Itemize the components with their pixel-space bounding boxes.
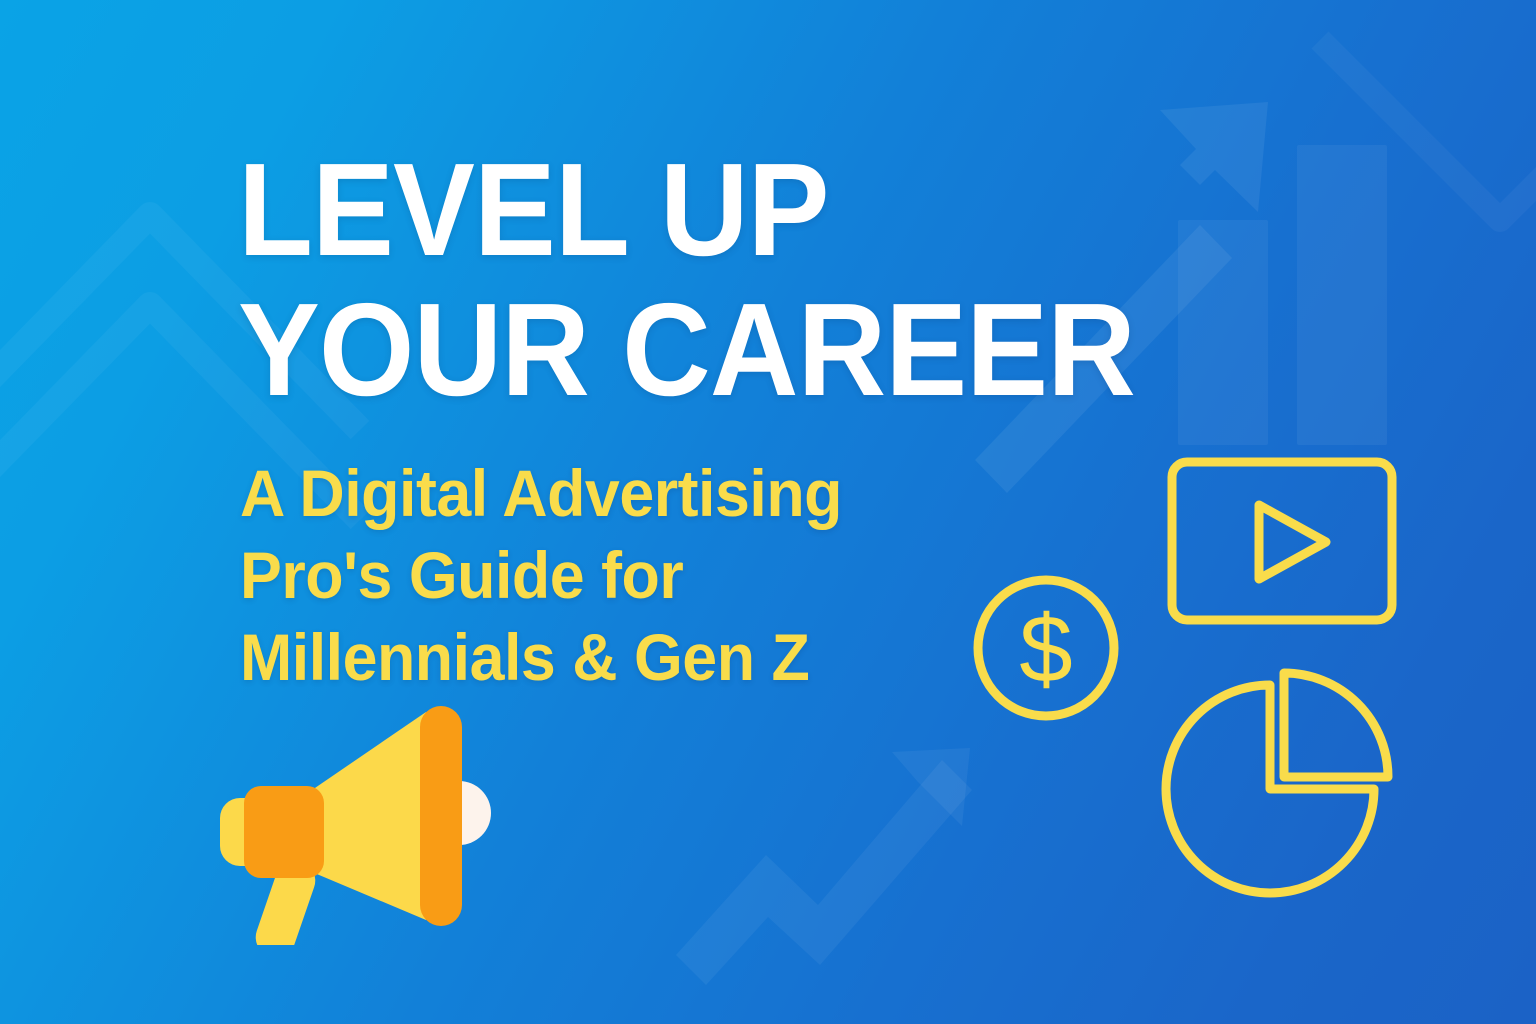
subtitle-line-2: Pro's Guide for <box>240 534 842 616</box>
pie-chart-icon <box>1160 664 1396 904</box>
megaphone-rim <box>420 706 462 926</box>
dollar-coin-icon: $ <box>968 570 1124 726</box>
growth-arrow-bottom <box>676 748 972 985</box>
page-subtitle: A Digital Advertising Pro's Guide for Mi… <box>240 452 842 698</box>
pie-major-slice <box>1166 685 1374 893</box>
dollar-sign-glyph: $ <box>1019 596 1072 703</box>
subtitle-line-3: Millennials & Gen Z <box>240 616 842 698</box>
page-title: LEVEL UP YOUR CAREER <box>238 140 1135 420</box>
megaphone-cone <box>312 712 426 920</box>
headline-line-2: YOUR CAREER <box>238 280 1135 420</box>
chevron-lines-right <box>1320 40 1536 220</box>
bar-chart-bar-short <box>1178 220 1268 445</box>
play-triangle-icon <box>1259 505 1326 579</box>
bar-chart-bar-tall <box>1297 145 1387 445</box>
headline-line-1: LEVEL UP <box>238 140 1135 280</box>
megaphone-body <box>244 786 324 878</box>
subtitle-line-1: A Digital Advertising <box>240 452 842 534</box>
video-frame <box>1172 462 1392 620</box>
pie-quarter-slice <box>1284 673 1388 777</box>
megaphone-icon <box>214 690 504 945</box>
hero-banner: LEVEL UP YOUR CAREER A Digital Advertisi… <box>0 0 1536 1024</box>
video-play-icon <box>1166 456 1398 628</box>
